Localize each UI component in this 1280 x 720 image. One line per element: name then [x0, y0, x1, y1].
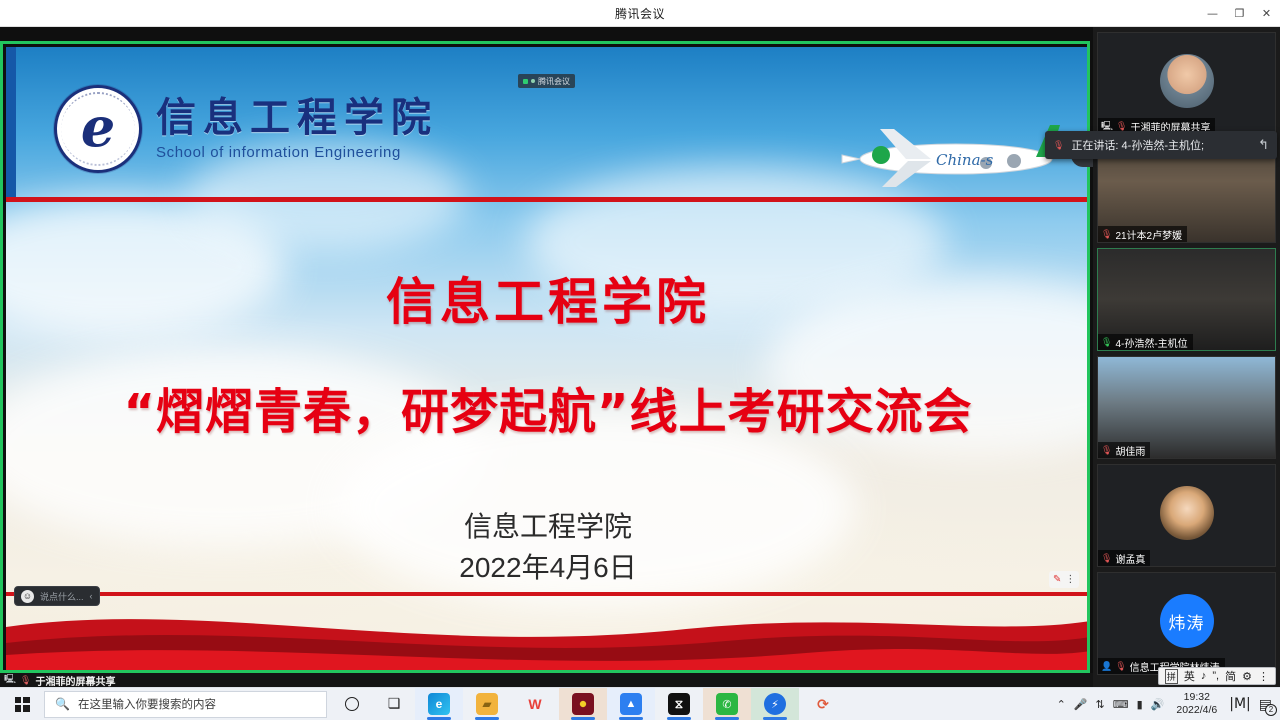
clock-date: 2022/4/6	[1176, 704, 1217, 717]
cortana-icon	[345, 697, 359, 711]
app-last-icon: ⟳	[812, 693, 834, 715]
notification-center-button[interactable]: ▤ 2	[1259, 696, 1272, 713]
slide-title-line1: 信息工程学院	[6, 262, 1090, 334]
taskbar-app-red[interactable]	[559, 688, 607, 720]
avatar	[1160, 54, 1214, 108]
capcut-icon: ⧖	[668, 693, 690, 715]
more-options-icon[interactable]: ⋮	[1065, 574, 1075, 585]
taskbar-app-edge[interactable]: e	[415, 688, 463, 720]
search-input[interactable]: 🔍 在这里输入你要搜索的内容	[44, 691, 327, 718]
presentation-slide: e 信息工程学院 School of information Engineeri…	[6, 47, 1090, 673]
mic-muted-icon: 🎙	[1101, 446, 1112, 455]
keyboard-icon[interactable]: ⌨	[1113, 698, 1129, 711]
slide-title-line2: “熠熠青春，研梦起航”线上考研交流会	[6, 372, 1090, 442]
share-status-bar: 🖳 🎙 于湘菲的屏幕共享	[0, 673, 1093, 687]
participant-tile[interactable]: 🎙 谢孟真	[1097, 464, 1276, 567]
participant-tile[interactable]: 炜涛 👤 🎙 信息工程学院林炜涛	[1097, 572, 1276, 675]
edge-icon: e	[428, 693, 450, 715]
taskbar-app-bolt[interactable]: ⚡	[751, 688, 799, 720]
seal-ring-decor	[61, 92, 135, 166]
ime-more-icon[interactable]: ⋮	[1258, 670, 1269, 683]
ime-mode-icon[interactable]: 拼	[1165, 669, 1178, 684]
slide-subtitle-date: 2022年4月6日	[6, 548, 1090, 589]
mic-muted-icon: 🎙	[1116, 122, 1127, 131]
school-logo-text: 信息工程学院 School of information Engineering	[156, 97, 438, 161]
mic-muted-icon: 🎙	[1053, 141, 1064, 150]
participant-name: 谢孟真	[1115, 551, 1145, 566]
airplane-graphic: China-s	[836, 117, 1066, 197]
host-icon: 👤	[1101, 662, 1112, 671]
volume-icon[interactable]: 🔊	[1151, 698, 1165, 711]
chevron-left-icon[interactable]: ‹	[90, 591, 93, 601]
slide-subtitle-org: 信息工程学院	[6, 507, 1090, 548]
search-icon: 🔍	[55, 697, 70, 711]
participant-tile[interactable]: 🎙 胡佳雨	[1097, 356, 1276, 459]
wechat-icon: ✆	[716, 693, 738, 715]
window-title: 腾讯会议	[615, 5, 665, 22]
school-name-cn: 信息工程学院	[156, 97, 438, 139]
notification-count: 2	[1265, 704, 1277, 716]
slide-chat-input[interactable]: ☺ 说点什么... ‹	[14, 586, 100, 606]
slide-annotation-tool[interactable]: ✎ ⋮	[1049, 571, 1079, 588]
microphone-icon[interactable]: 🎤	[1074, 698, 1088, 711]
mic-muted-icon: 🎙	[1101, 554, 1112, 563]
windows-taskbar[interactable]: 🔍 在这里输入你要搜索的内容 ❏ e ▰ W ▲ ⧖ ✆ ⚡ ⟳ ⌃ 🎤 ⇅ ⌨…	[0, 687, 1280, 720]
ime-language[interactable]: 英	[1184, 668, 1195, 684]
share-float-label[interactable]: 腾讯会议	[518, 74, 575, 88]
battery-icon[interactable]: ▮	[1137, 698, 1143, 711]
window-controls: — ❐ ✕	[1199, 0, 1280, 27]
share-status-dot-icon	[523, 79, 528, 84]
mic-on-icon: 🎙	[1101, 338, 1112, 347]
app-blue-icon: ▲	[620, 693, 642, 715]
mic-muted-icon: 🎙	[20, 675, 31, 686]
slide-divider-top	[6, 197, 1090, 202]
meeting-window: e 信息工程学院 School of information Engineeri…	[0, 27, 1280, 687]
svg-text:China-s: China-s	[936, 151, 994, 169]
network-icon[interactable]: ⇅	[1096, 698, 1105, 711]
gear-icon[interactable]: ⚙	[1242, 670, 1252, 683]
slide-left-accent-bar	[6, 47, 16, 202]
school-seal-icon: e	[54, 85, 142, 173]
shared-screen-region[interactable]: e 信息工程学院 School of information Engineeri…	[0, 27, 1093, 687]
school-logo: e 信息工程学院 School of information Engineeri…	[54, 85, 438, 173]
avatar-initials: 炜涛	[1160, 594, 1214, 648]
task-view-icon: ❏	[388, 696, 401, 712]
active-speaker-toast[interactable]: 🎙 正在讲话: 4-孙浩然-主机位; ↰	[1045, 131, 1277, 159]
start-button[interactable]	[0, 688, 44, 720]
participant-badge: 🎙 4-孙浩然-主机位	[1098, 334, 1193, 350]
windows-logo-icon	[15, 697, 30, 712]
ime-toolbar[interactable]: 拼 英 ♪ ”, 简 ⚙ ⋮	[1158, 667, 1276, 685]
emoji-icon[interactable]: ☺	[21, 590, 34, 603]
participant-rail[interactable]: 🖳 🎙 于湘菲的屏幕共享 🎙 21计本2卢梦媛 🎙 4-孙浩然-主机位 🎙	[1093, 27, 1280, 687]
ime-punctuation[interactable]: ”,	[1212, 670, 1219, 682]
share-highlight-border: e 信息工程学院 School of information Engineeri…	[0, 41, 1090, 673]
avatar	[1160, 486, 1214, 540]
screen-share-icon: 🖳	[4, 672, 16, 688]
participant-badge: 🎙 胡佳雨	[1098, 442, 1150, 458]
mic-muted-icon: 🎙	[1115, 662, 1126, 671]
annotate-icon[interactable]: ✎	[1053, 574, 1061, 585]
system-tray[interactable]: ⌃ 🎤 ⇅ ⌨ ▮ 🔊 19:32 2022/4/6 |M| ▤ 2	[1057, 691, 1280, 716]
screen-share-icon: 🖳	[1101, 122, 1113, 131]
clock-time: 19:32	[1176, 691, 1217, 704]
share-owner-name: 于湘菲的屏幕共享	[35, 673, 115, 688]
participant-name: 4-孙浩然-主机位	[1115, 335, 1187, 350]
cortana-button[interactable]	[331, 688, 373, 720]
tray-chevron-icon[interactable]: ⌃	[1057, 698, 1066, 711]
participant-name: 胡佳雨	[1115, 443, 1145, 458]
taskbar-app-wps[interactable]: W	[511, 688, 559, 720]
active-speaker-text: 正在讲话: 4-孙浩然-主机位;	[1071, 137, 1204, 153]
restore-button[interactable]: ❐	[1226, 0, 1253, 27]
app-bolt-icon: ⚡	[764, 693, 786, 715]
taskbar-app-wechat[interactable]: ✆	[703, 688, 751, 720]
share-status-dot2-icon	[531, 79, 535, 83]
taskbar-app-explorer[interactable]: ▰	[463, 688, 511, 720]
taskbar-app-last[interactable]: ⟳	[799, 688, 847, 720]
slide-footer-wave	[6, 593, 1090, 673]
school-name-en: School of information Engineering	[156, 144, 438, 161]
chat-placeholder: 说点什么...	[40, 590, 84, 603]
mi-icon[interactable]: |M|	[1229, 696, 1251, 712]
participant-name: 21计本2卢梦媛	[1115, 227, 1182, 242]
wps-icon: W	[524, 693, 546, 715]
mic-muted-icon: 🎙	[1101, 230, 1112, 239]
folder-icon: ▰	[476, 693, 498, 715]
taskbar-app-capcut[interactable]: ⧖	[655, 688, 703, 720]
minimize-button[interactable]: —	[1199, 0, 1226, 27]
search-placeholder: 在这里输入你要搜索的内容	[78, 696, 216, 712]
share-float-label-text: 腾讯会议	[538, 76, 570, 87]
window-title-bar: 腾讯会议 — ❐ ✕	[0, 0, 1280, 27]
participant-tile[interactable]: 🖳 🎙 于湘菲的屏幕共享	[1097, 32, 1276, 135]
participant-tile-active-speaker[interactable]: 🎙 4-孙浩然-主机位	[1097, 248, 1276, 351]
participant-badge: 🎙 谢孟真	[1098, 550, 1150, 566]
task-view-button[interactable]: ❏	[373, 688, 415, 720]
return-arrow-icon[interactable]: ↰	[1258, 137, 1269, 153]
slide-subtitle: 信息工程学院 2022年4月6日	[6, 507, 1090, 588]
participant-badge: 🎙 21计本2卢梦媛	[1098, 226, 1187, 242]
app-red-icon	[572, 693, 594, 715]
taskbar-app-blue[interactable]: ▲	[607, 688, 655, 720]
close-button[interactable]: ✕	[1253, 0, 1280, 27]
clock[interactable]: 19:32 2022/4/6	[1172, 691, 1221, 716]
ime-note-icon[interactable]: ♪	[1201, 670, 1207, 682]
ime-simplified[interactable]: 简	[1225, 668, 1236, 684]
